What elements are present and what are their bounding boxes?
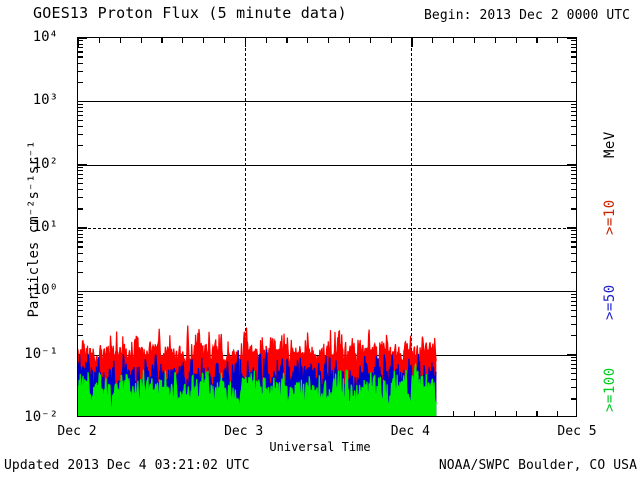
begin-time-label: Begin: 2013 Dec 2 0000 UTC [424,9,630,22]
legend-unit-mev: MeV [602,131,618,158]
y-tick-label: 10⁻¹ [24,346,58,362]
y-tick-label: 10¹ [33,219,58,235]
y-tick-label: 10³ [33,92,58,108]
proton-flux-chart: GOES13 Proton Flux (5 minute data) Begin… [0,0,640,480]
legend-item-gte100: >=100 [602,367,618,412]
x-tick-label: Dec 2 [57,424,96,439]
y-tick-label: 10⁻² [24,409,58,425]
x-tick-label: Dec 5 [557,424,596,439]
legend-item-gte50: >=50 [602,284,618,320]
y-tick-label: 10⁰ [33,282,58,298]
source-attribution: NOAA/SWPC Boulder, CO USA [439,459,637,472]
data-series-canvas [78,38,577,417]
y-tick-label: 10² [33,156,58,172]
legend-item-gte10: >=10 [602,199,618,235]
page-title: GOES13 Proton Flux (5 minute data) [33,6,347,21]
plot-area [77,37,577,417]
x-tick-label: Dec 3 [224,424,263,439]
x-tick-label: Dec 4 [391,424,430,439]
x-axis-label: Universal Time [0,441,640,453]
updated-timestamp: Updated 2013 Dec 4 03:21:02 UTC [4,459,250,472]
y-tick-label: 10⁴ [33,29,58,45]
